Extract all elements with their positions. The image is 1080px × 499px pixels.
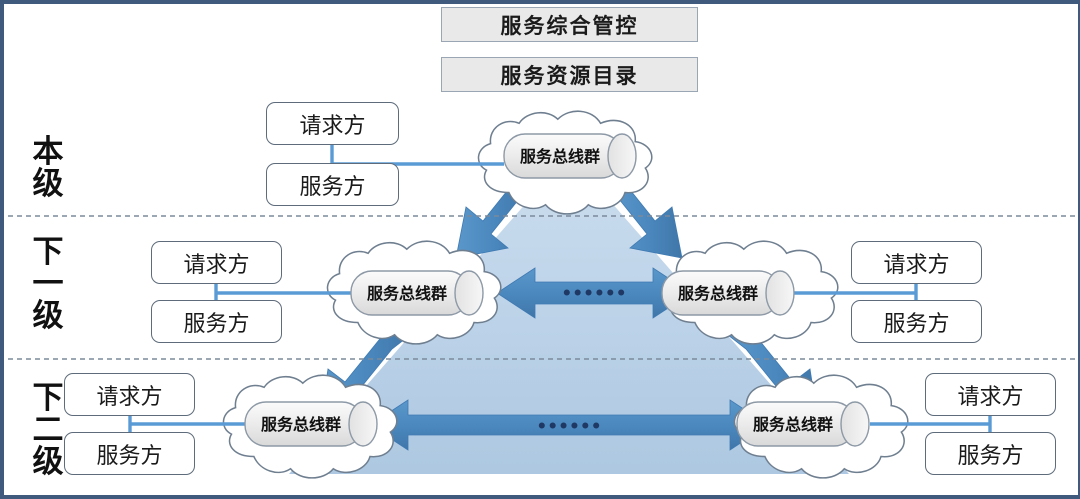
- endpoint-requester-sub1-right[interactable]: 请求方: [851, 241, 982, 284]
- endpoint-provider-local[interactable]: 服务方: [266, 163, 399, 206]
- arrow-ellipsis-level1: ••••••: [561, 284, 626, 304]
- endpoint-provider-sub2-left[interactable]: 服务方: [64, 432, 195, 475]
- endpoint-label: 请求方: [957, 379, 1023, 411]
- bus-label-sub2-left: 服务总线群: [261, 415, 341, 434]
- endpoint-provider-sub1-left[interactable]: 服务方: [151, 300, 282, 343]
- endpoint-provider-sub2-right[interactable]: 服务方: [925, 432, 1056, 475]
- endpoint-label: 服务方: [883, 306, 949, 338]
- endpoint-label: 服务方: [957, 438, 1023, 470]
- endpoint-requester-local[interactable]: 请求方: [266, 102, 399, 145]
- endpoint-label: 请求方: [96, 379, 162, 411]
- bus-label-sub1-left: 服务总线群: [367, 284, 447, 303]
- bus-label-local: 服务总线群: [520, 147, 600, 166]
- title-box-service-governance[interactable]: 服务综合管控: [441, 7, 698, 42]
- title-box-label: 服务综合管控: [501, 10, 639, 40]
- diagram-canvas: •••••• ••••••: [0, 0, 1080, 499]
- arrow-ellipsis-level2: ••••••: [536, 417, 601, 437]
- level-label-local: 本级: [18, 136, 78, 200]
- endpoint-requester-sub2-right[interactable]: 请求方: [925, 373, 1056, 416]
- bus-label-sub2-right: 服务总线群: [753, 415, 833, 434]
- endpoint-label: 服务方: [96, 438, 162, 470]
- endpoint-label: 请求方: [299, 108, 365, 140]
- endpoint-provider-sub1-right[interactable]: 服务方: [851, 300, 982, 343]
- endpoint-requester-sub2-left[interactable]: 请求方: [64, 373, 195, 416]
- endpoint-requester-sub1-left[interactable]: 请求方: [151, 241, 282, 284]
- endpoint-label: 服务方: [183, 306, 249, 338]
- endpoint-label: 请求方: [883, 247, 949, 279]
- endpoint-label: 请求方: [183, 247, 249, 279]
- level-label-sub-one: 下一级: [18, 236, 78, 333]
- bus-label-sub1-right: 服务总线群: [678, 284, 758, 303]
- title-box-label: 服务资源目录: [501, 60, 639, 90]
- title-box-service-catalog[interactable]: 服务资源目录: [441, 57, 698, 92]
- endpoint-label: 服务方: [299, 169, 365, 201]
